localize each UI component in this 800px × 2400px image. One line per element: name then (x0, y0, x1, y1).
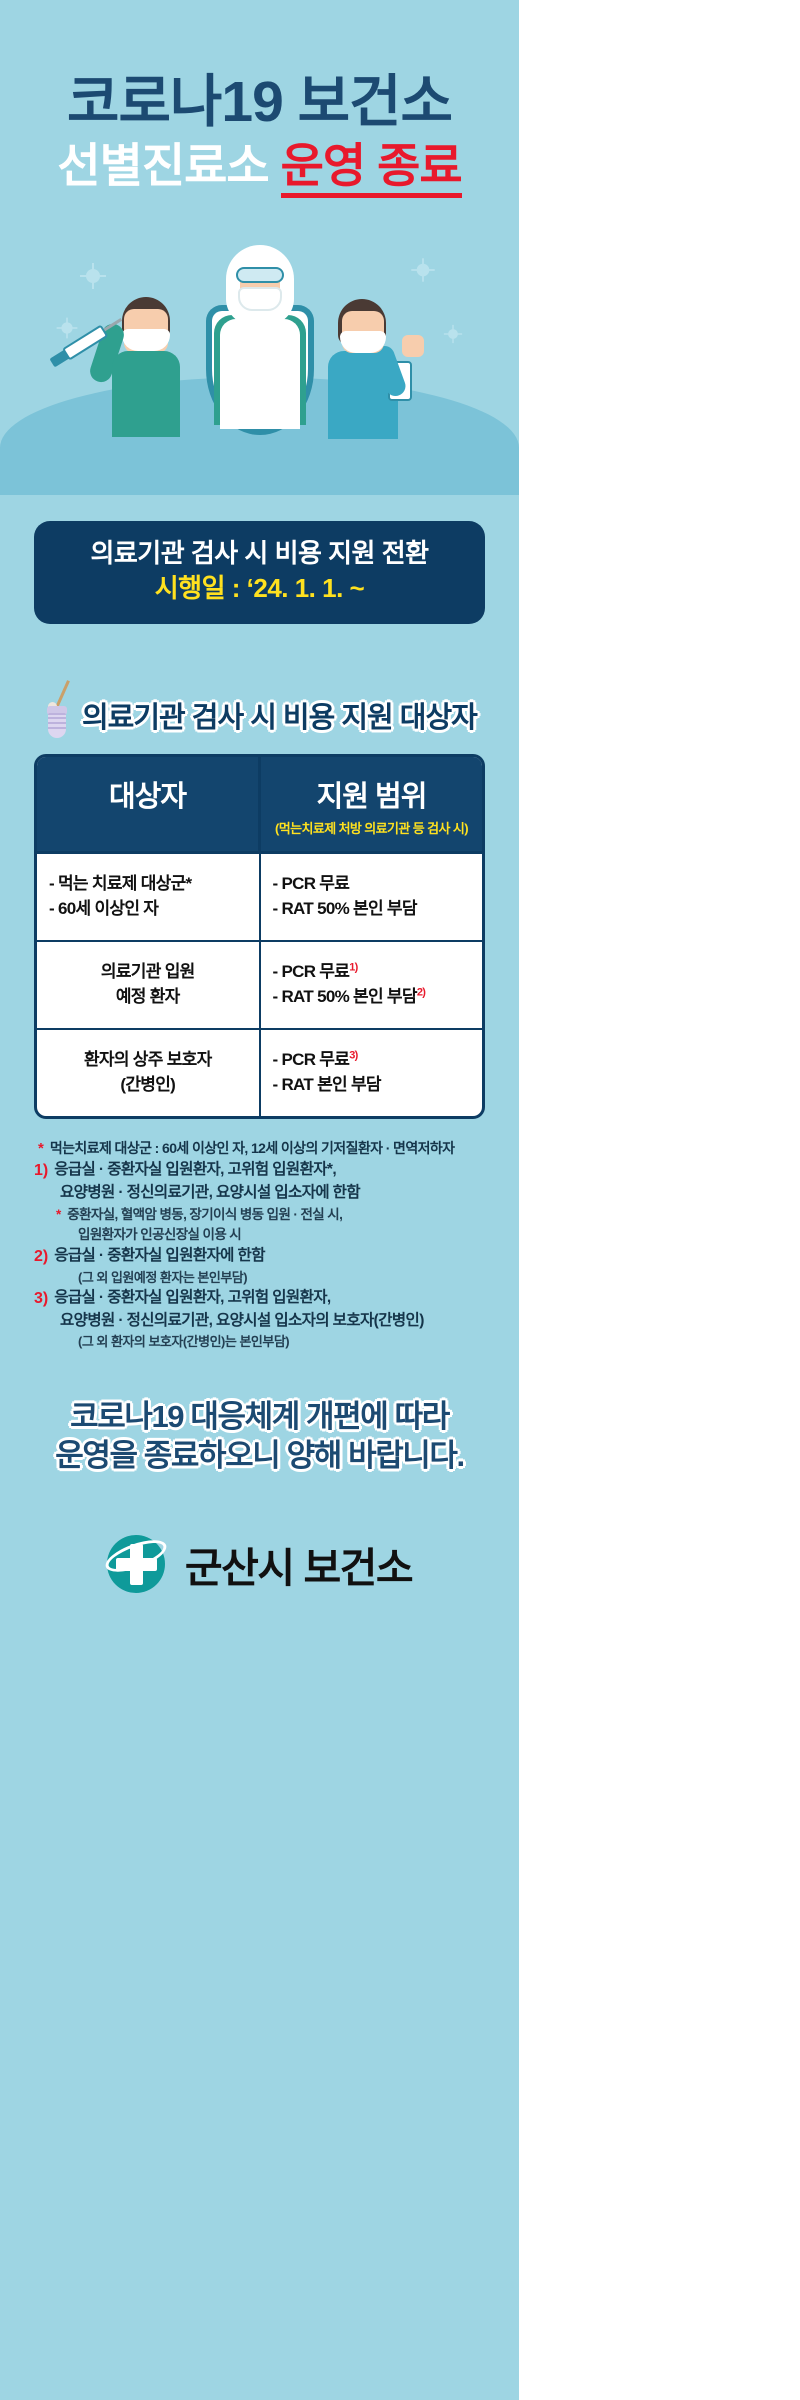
target-line: - 먹는 치료제 대상군* (49, 872, 247, 897)
organization-name: 군산시 보건소 (185, 1534, 412, 1594)
virus-particle-icon (448, 329, 458, 339)
footnote-marker: 2) (34, 1246, 48, 1267)
table-cell-scope: - PCR 무료1) - RAT 50% 본인 부담2) (261, 942, 483, 1028)
title-line-2-red: 운영 종료 (281, 139, 462, 198)
goggles-icon (236, 267, 284, 283)
section-title-text: 의료기관 검사 시 비용 지원 대상자 (82, 694, 477, 738)
table-cell-target: - 먹는 치료제 대상군* - 60세 이상인 자 (37, 854, 261, 940)
section-heading: 의료기관 검사 시 비용 지원 대상자 (0, 678, 519, 738)
footnote-ref: 1) (349, 961, 357, 973)
face-mask-icon (122, 329, 170, 351)
scope-line: - PCR 무료1) (273, 960, 471, 985)
closing-line-2: 운영을 종료하오니 양해 바랍니다. (0, 1436, 519, 1476)
target-line: - 60세 이상인 자 (49, 897, 247, 922)
target-line: 환자의 상주 보호자 (84, 1048, 212, 1073)
tube-ring (48, 717, 66, 719)
table-header-scope: 지원 범위 (먹는치료제 처방 의료기관 등 검사 시) (261, 757, 482, 851)
table-row: 의료기관 입원 예정 환자 - PCR 무료1) - RAT 50% 본인 부담… (37, 942, 482, 1030)
footnote-continuation: 요양병원 · 정신의료기관, 요양시설 입소자의 보호자(간병인) (30, 1311, 489, 1331)
health-center-cross-globe-logo-icon (107, 1535, 165, 1593)
table-header-scope-sublabel: (먹는치료제 처방 의료기관 등 검사 시) (267, 818, 476, 837)
table-cell-target: 의료기관 입원 예정 환자 (37, 942, 261, 1028)
footnote-text: 응급실 · 중환자실 입원환자에 한함 (54, 1246, 265, 1266)
poster-root: 코로나19 보건소 선별진료소운영 종료 (0, 0, 519, 2400)
footnote-item: 3) 응급실 · 중환자실 입원환자, 고위험 입원환자, (30, 1288, 489, 1309)
target-line: (간병인) (120, 1073, 175, 1098)
scope-line-text: - PCR 무료 (273, 1050, 350, 1069)
virus-particle-icon (417, 264, 430, 277)
scope-line: - RAT 본인 부담 (273, 1073, 471, 1098)
table-header-row: 대상자 지원 범위 (먹는치료제 처방 의료기관 등 검사 시) (37, 757, 482, 854)
banner-headline: 의료기관 검사 시 비용 지원 전환 (44, 537, 475, 570)
worker-coat (220, 319, 300, 429)
footnote-continuation: (그 외 입원예정 환자는 본인부담) (30, 1269, 489, 1286)
scope-line-text: - PCR 무료 (273, 962, 350, 981)
table-header-target: 대상자 (37, 757, 261, 851)
title-line-1: 코로나19 보건소 (0, 72, 519, 134)
table-cell-target: 환자의 상주 보호자 (간병인) (37, 1030, 261, 1116)
footnote-text: 중환자실, 혈액암 병동, 장기이식 병동 입원 · 전실 시, (67, 1206, 342, 1224)
footnote-marker: * (38, 1139, 44, 1159)
target-line: 예정 환자 (116, 985, 180, 1010)
scope-line: - RAT 50% 본인 부담 (273, 897, 471, 922)
table-row: 환자의 상주 보호자 (간병인) - PCR 무료3) - RAT 본인 부담 (37, 1030, 482, 1116)
eligibility-table: 대상자 지원 범위 (먹는치료제 처방 의료기관 등 검사 시) - 먹는 치료… (34, 754, 485, 1119)
syringe-needle (104, 318, 123, 331)
tube-ring (48, 722, 66, 724)
footnote-ref: 3) (349, 1049, 357, 1061)
footnote-item: * 먹는치료제 대상군 : 60세 이상인 자, 12세 이상의 기저질환자 ·… (30, 1139, 489, 1159)
target-line: 의료기관 입원 (101, 960, 195, 985)
footnote-item: * 중환자실, 혈액암 병동, 장기이식 병동 입원 · 전실 시, (30, 1206, 489, 1224)
medical-worker-ppe-figure (196, 245, 324, 435)
scope-line: - PCR 무료 (273, 872, 471, 897)
footnote-text: 먹는치료제 대상군 : 60세 이상인 자, 12세 이상의 기저질환자 · 면… (50, 1139, 455, 1157)
target-line-text: - 먹는 치료제 대상군* (49, 874, 191, 893)
table-cell-scope: - PCR 무료 - RAT 50% 본인 부담 (261, 854, 483, 940)
footnote-ref: 2) (417, 986, 425, 998)
canvas-margin (519, 0, 800, 2400)
face-mask-icon (238, 287, 282, 311)
footnote-marker: 3) (34, 1288, 48, 1309)
table-header-scope-label: 지원 범위 (317, 781, 427, 813)
footnote-continuation: 입원환자가 인공신장실 이용 시 (30, 1226, 489, 1244)
scope-line: - RAT 50% 본인 부담2) (273, 985, 471, 1010)
table-row: - 먹는 치료제 대상군* - 60세 이상인 자 - PCR 무료 - RAT… (37, 854, 482, 942)
child-body (112, 351, 180, 437)
virus-particle-icon (61, 323, 72, 334)
announcement-banner: 의료기관 검사 시 비용 지원 전환 시행일 : ‘24. 1. 1. ~ (34, 521, 485, 623)
footnote-continuation: (그 외 환자의 보호자(간병인)는 본인부담) (30, 1333, 489, 1350)
nurse-with-phone-figure (318, 299, 428, 439)
footnote-marker: * (56, 1206, 61, 1224)
hero-illustration (0, 235, 519, 495)
scope-line-text: - RAT 50% 본인 부담 (273, 987, 417, 1006)
footnote-text: 응급실 · 중환자실 입원환자, 고위험 입원환자*, (54, 1160, 336, 1180)
footnotes-list: * 먹는치료제 대상군 : 60세 이상인 자, 12세 이상의 기저질환자 ·… (30, 1139, 489, 1351)
poster-title: 코로나19 보건소 선별진료소운영 종료 (0, 0, 519, 191)
test-tube-swab-icon (44, 684, 70, 738)
scope-line: - PCR 무료3) (273, 1048, 471, 1073)
closing-line-1: 코로나19 대응체계 개편에 따라 (0, 1397, 519, 1437)
face-mask-icon (340, 331, 386, 353)
nurse-hand (402, 335, 424, 357)
banner-effective-date: 시행일 : ‘24. 1. 1. ~ (44, 572, 475, 606)
virus-particle-icon (86, 269, 100, 283)
table-cell-scope: - PCR 무료3) - RAT 본인 부담 (261, 1030, 483, 1116)
footnote-text: 응급실 · 중환자실 입원환자, 고위험 입원환자, (54, 1288, 330, 1308)
footnote-marker: 1) (34, 1160, 48, 1181)
footnote-item: 1) 응급실 · 중환자실 입원환자, 고위험 입원환자*, (30, 1160, 489, 1181)
closing-message: 코로나19 대응체계 개편에 따라 운영을 종료하오니 양해 바랍니다. (0, 1397, 519, 1476)
footer-branding: 군산시 보건소 (0, 1534, 519, 1594)
footnote-item: 2) 응급실 · 중환자실 입원환자에 한함 (30, 1246, 489, 1267)
title-line-2: 선별진료소운영 종료 (0, 140, 519, 192)
footnote-continuation: 요양병원 · 정신의료기관, 요양시설 입소자에 한함 (30, 1183, 489, 1203)
tube-ring (48, 727, 66, 729)
title-line-2-white: 선별진료소 (57, 139, 268, 192)
table-header-target-label: 대상자 (109, 781, 186, 813)
